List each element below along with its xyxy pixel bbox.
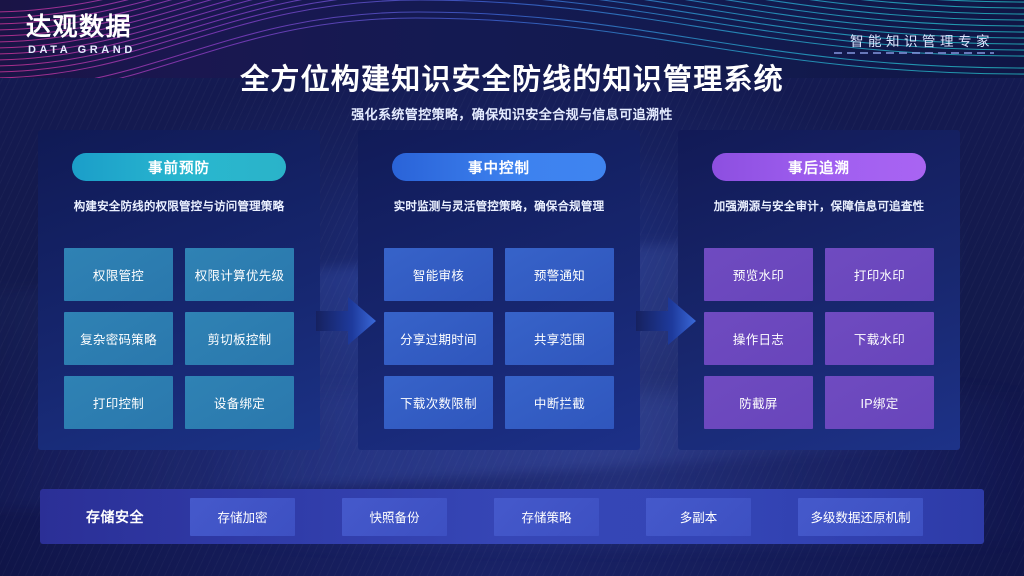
tile-grid-pre-prevention: 权限管控 权限计算优先级 复杂密码策略 剪切板控制 打印控制 设备绑定 bbox=[64, 248, 294, 429]
stage-panel-pre-prevention[interactable]: 事前预防 构建安全防线的权限管控与访问管理策略 权限管控 权限计算优先级 复杂密… bbox=[38, 130, 320, 450]
tile-item[interactable]: 分享过期时间 bbox=[384, 312, 493, 365]
tile-item[interactable]: IP绑定 bbox=[825, 376, 934, 429]
storage-tile-item[interactable]: 存储策略 bbox=[494, 498, 599, 536]
storage-security-label: 存储安全 bbox=[40, 507, 190, 527]
storage-tile-item[interactable]: 多级数据还原机制 bbox=[798, 498, 923, 536]
tile-item[interactable]: 中断拦截 bbox=[505, 376, 614, 429]
tile-item[interactable]: 防截屏 bbox=[704, 376, 813, 429]
tile-item[interactable]: 权限管控 bbox=[64, 248, 173, 301]
arrow-right-icon bbox=[636, 295, 696, 347]
stage-title-post-traceability: 事后追溯 bbox=[712, 153, 926, 181]
storage-tile-item[interactable]: 多副本 bbox=[646, 498, 751, 536]
stage-title-in-process-control: 事中控制 bbox=[392, 153, 606, 181]
arrow-right-icon bbox=[316, 295, 376, 347]
tile-item[interactable]: 打印水印 bbox=[825, 248, 934, 301]
tile-item[interactable]: 打印控制 bbox=[64, 376, 173, 429]
stage-panel-post-traceability[interactable]: 事后追溯 加强溯源与安全审计，保障信息可追查性 预览水印 打印水印 操作日志 下… bbox=[678, 130, 960, 450]
tile-item[interactable]: 智能审核 bbox=[384, 248, 493, 301]
tile-grid-in-process-control: 智能审核 预警通知 分享过期时间 共享范围 下载次数限制 中断拦截 bbox=[384, 248, 614, 429]
tile-item[interactable]: 共享范围 bbox=[505, 312, 614, 365]
tile-item[interactable]: 下载水印 bbox=[825, 312, 934, 365]
slide-canvas: 达观数据 DATA GRAND 智能知识管理专家 全方位构建知识安全防线的知识管… bbox=[0, 0, 1024, 576]
tile-item[interactable]: 下载次数限制 bbox=[384, 376, 493, 429]
stage-title-pre-prevention: 事前预防 bbox=[72, 153, 286, 181]
storage-security-bar: 存储安全 存储加密 快照备份 存储策略 多副本 多级数据还原机制 bbox=[40, 489, 984, 544]
tile-item[interactable]: 复杂密码策略 bbox=[64, 312, 173, 365]
tile-item[interactable]: 操作日志 bbox=[704, 312, 813, 365]
stage-panel-in-process-control[interactable]: 事中控制 实时监测与灵活管控策略，确保合规管理 智能审核 预警通知 分享过期时间… bbox=[358, 130, 640, 450]
tile-item[interactable]: 设备绑定 bbox=[185, 376, 294, 429]
tile-grid-post-traceability: 预览水印 打印水印 操作日志 下载水印 防截屏 IP绑定 bbox=[704, 248, 934, 429]
tile-item[interactable]: 权限计算优先级 bbox=[185, 248, 294, 301]
tile-item[interactable]: 剪切板控制 bbox=[185, 312, 294, 365]
stage-desc-in-process-control: 实时监测与灵活管控策略，确保合规管理 bbox=[368, 198, 630, 214]
tile-item[interactable]: 预览水印 bbox=[704, 248, 813, 301]
stage-desc-pre-prevention: 构建安全防线的权限管控与访问管理策略 bbox=[48, 198, 310, 214]
tile-item[interactable]: 预警通知 bbox=[505, 248, 614, 301]
stage-desc-post-traceability: 加强溯源与安全审计，保障信息可追查性 bbox=[688, 198, 950, 214]
storage-tile-item[interactable]: 快照备份 bbox=[342, 498, 447, 536]
storage-tile-item[interactable]: 存储加密 bbox=[190, 498, 295, 536]
